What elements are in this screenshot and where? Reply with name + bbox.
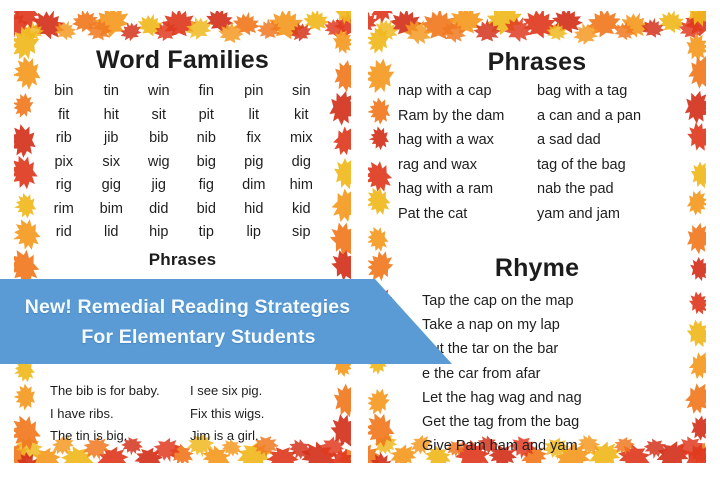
word-cell: lid — [88, 221, 136, 245]
right-phrases-column-2: bag with a taga can and a pana sad dadta… — [537, 79, 676, 226]
phrase-item: bag with a tag — [537, 79, 676, 104]
phrase-item: rag and wax — [398, 153, 537, 178]
word-cell: bim — [88, 198, 136, 222]
right-phrases-column-1: nap with a capRam by the damhag with a w… — [398, 79, 537, 226]
word-cell: pit — [183, 104, 231, 128]
leaf-border-top-right-card — [368, 11, 706, 45]
word-family-grid: bintinwinfinpinsinfithitsitpitlitkitribj… — [40, 80, 325, 245]
banner-line-2: For Elementary Students — [59, 322, 315, 352]
right-phrases-list: nap with a capRam by the damhag with a w… — [398, 79, 676, 226]
word-cell: rim — [40, 198, 88, 222]
word-cell: win — [135, 80, 183, 104]
phrase-item: a sad dad — [537, 128, 676, 153]
word-cell: hit — [88, 104, 136, 128]
word-cell: sip — [278, 221, 326, 245]
word-cell: rib — [40, 127, 88, 151]
word-cell: jib — [88, 127, 136, 151]
phrase-item: tag of the bag — [537, 153, 676, 178]
word-cell: nib — [183, 127, 231, 151]
word-cell: kid — [278, 198, 326, 222]
word-cell: hip — [135, 221, 183, 245]
sentence-item: The bib is for baby. — [50, 380, 190, 403]
word-cell: gig — [88, 174, 136, 198]
rhyme-lines-list: Tap the cap on the mapTake a nap on my l… — [422, 289, 672, 458]
phrase-item: yam and jam — [537, 202, 676, 227]
word-cell: him — [278, 174, 326, 198]
phrase-item: a can and a pan — [537, 104, 676, 129]
word-cell: bid — [183, 198, 231, 222]
banner-line-1: New! Remedial Reading Strategies — [25, 292, 351, 322]
word-cell: fit — [40, 104, 88, 128]
word-cell: rig — [40, 174, 88, 198]
word-cell: pix — [40, 151, 88, 175]
word-cell: dim — [230, 174, 278, 198]
rhyme-line: Tap the cap on the map — [422, 289, 672, 313]
leaf-border-top-left-card — [14, 11, 351, 45]
word-cell: pig — [230, 151, 278, 175]
right-phrases-title: Phrases — [368, 48, 706, 77]
left-sentences-column-2: I see six pig.Fix this wigs.Jim is a gir… — [190, 380, 330, 448]
rhyme-line: Take a nap on my lap — [422, 313, 672, 337]
phrase-item: Pat the cat — [398, 202, 537, 227]
word-cell: bib — [135, 127, 183, 151]
left-phrases-heading: Phrases — [14, 250, 351, 270]
word-cell: dig — [278, 151, 326, 175]
word-cell: fig — [183, 174, 231, 198]
word-cell: lip — [230, 221, 278, 245]
left-sentences-column-1: The bib is for baby.I have ribs.The tin … — [50, 380, 190, 448]
sentence-item: I see six pig. — [190, 380, 330, 403]
word-cell: jig — [135, 174, 183, 198]
word-cell: pin — [230, 80, 278, 104]
sentence-item: The tin is big. — [50, 425, 190, 448]
word-cell: tip — [183, 221, 231, 245]
leaf-border-right-right-card — [676, 11, 706, 463]
phrase-item: nab the pad — [537, 177, 676, 202]
phrase-item: Ram by the dam — [398, 104, 537, 129]
rhyme-line: Put the tar on the bar — [422, 337, 672, 361]
sentence-item: Jim is a girl. — [190, 425, 330, 448]
word-cell: wig — [135, 151, 183, 175]
phrase-item: hag with a wax — [398, 128, 537, 153]
word-cell: sit — [135, 104, 183, 128]
word-cell: rid — [40, 221, 88, 245]
phrase-item: nap with a cap — [398, 79, 537, 104]
phrases-rhyme-card: Phrases nap with a capRam by the damhag … — [368, 11, 706, 463]
word-cell: mix — [278, 127, 326, 151]
sentence-item: I have ribs. — [50, 403, 190, 426]
word-cell: bin — [40, 80, 88, 104]
leaf-border-left-right-card — [368, 11, 398, 463]
word-families-title: Word Families — [14, 46, 351, 75]
word-cell: lit — [230, 104, 278, 128]
rhyme-line: Get the tag from the bag — [422, 410, 672, 434]
word-cell: tin — [88, 80, 136, 104]
word-cell: fin — [183, 80, 231, 104]
left-sentences-list: The bib is for baby.I have ribs.The tin … — [50, 380, 330, 448]
word-cell: fix — [230, 127, 278, 151]
rhyme-line: e the car from afar — [422, 362, 672, 386]
promo-banner: New! Remedial Reading Strategies For Ele… — [0, 279, 452, 364]
word-cell: six — [88, 151, 136, 175]
rhyme-line: Give Pam ham and yam — [422, 434, 672, 458]
phrase-item: hag with a ram — [398, 177, 537, 202]
sentence-item: Fix this wigs. — [190, 403, 330, 426]
rhyme-line: Let the hag wag and nag — [422, 386, 672, 410]
word-cell: sin — [278, 80, 326, 104]
word-cell: hid — [230, 198, 278, 222]
word-cell: did — [135, 198, 183, 222]
poster-canvas: Word Families bintinwinfinpinsinfithitsi… — [0, 0, 720, 478]
word-families-card: Word Families bintinwinfinpinsinfithitsi… — [14, 11, 351, 463]
word-cell: kit — [278, 104, 326, 128]
word-cell: big — [183, 151, 231, 175]
banner-text: New! Remedial Reading Strategies For Ele… — [0, 279, 375, 364]
